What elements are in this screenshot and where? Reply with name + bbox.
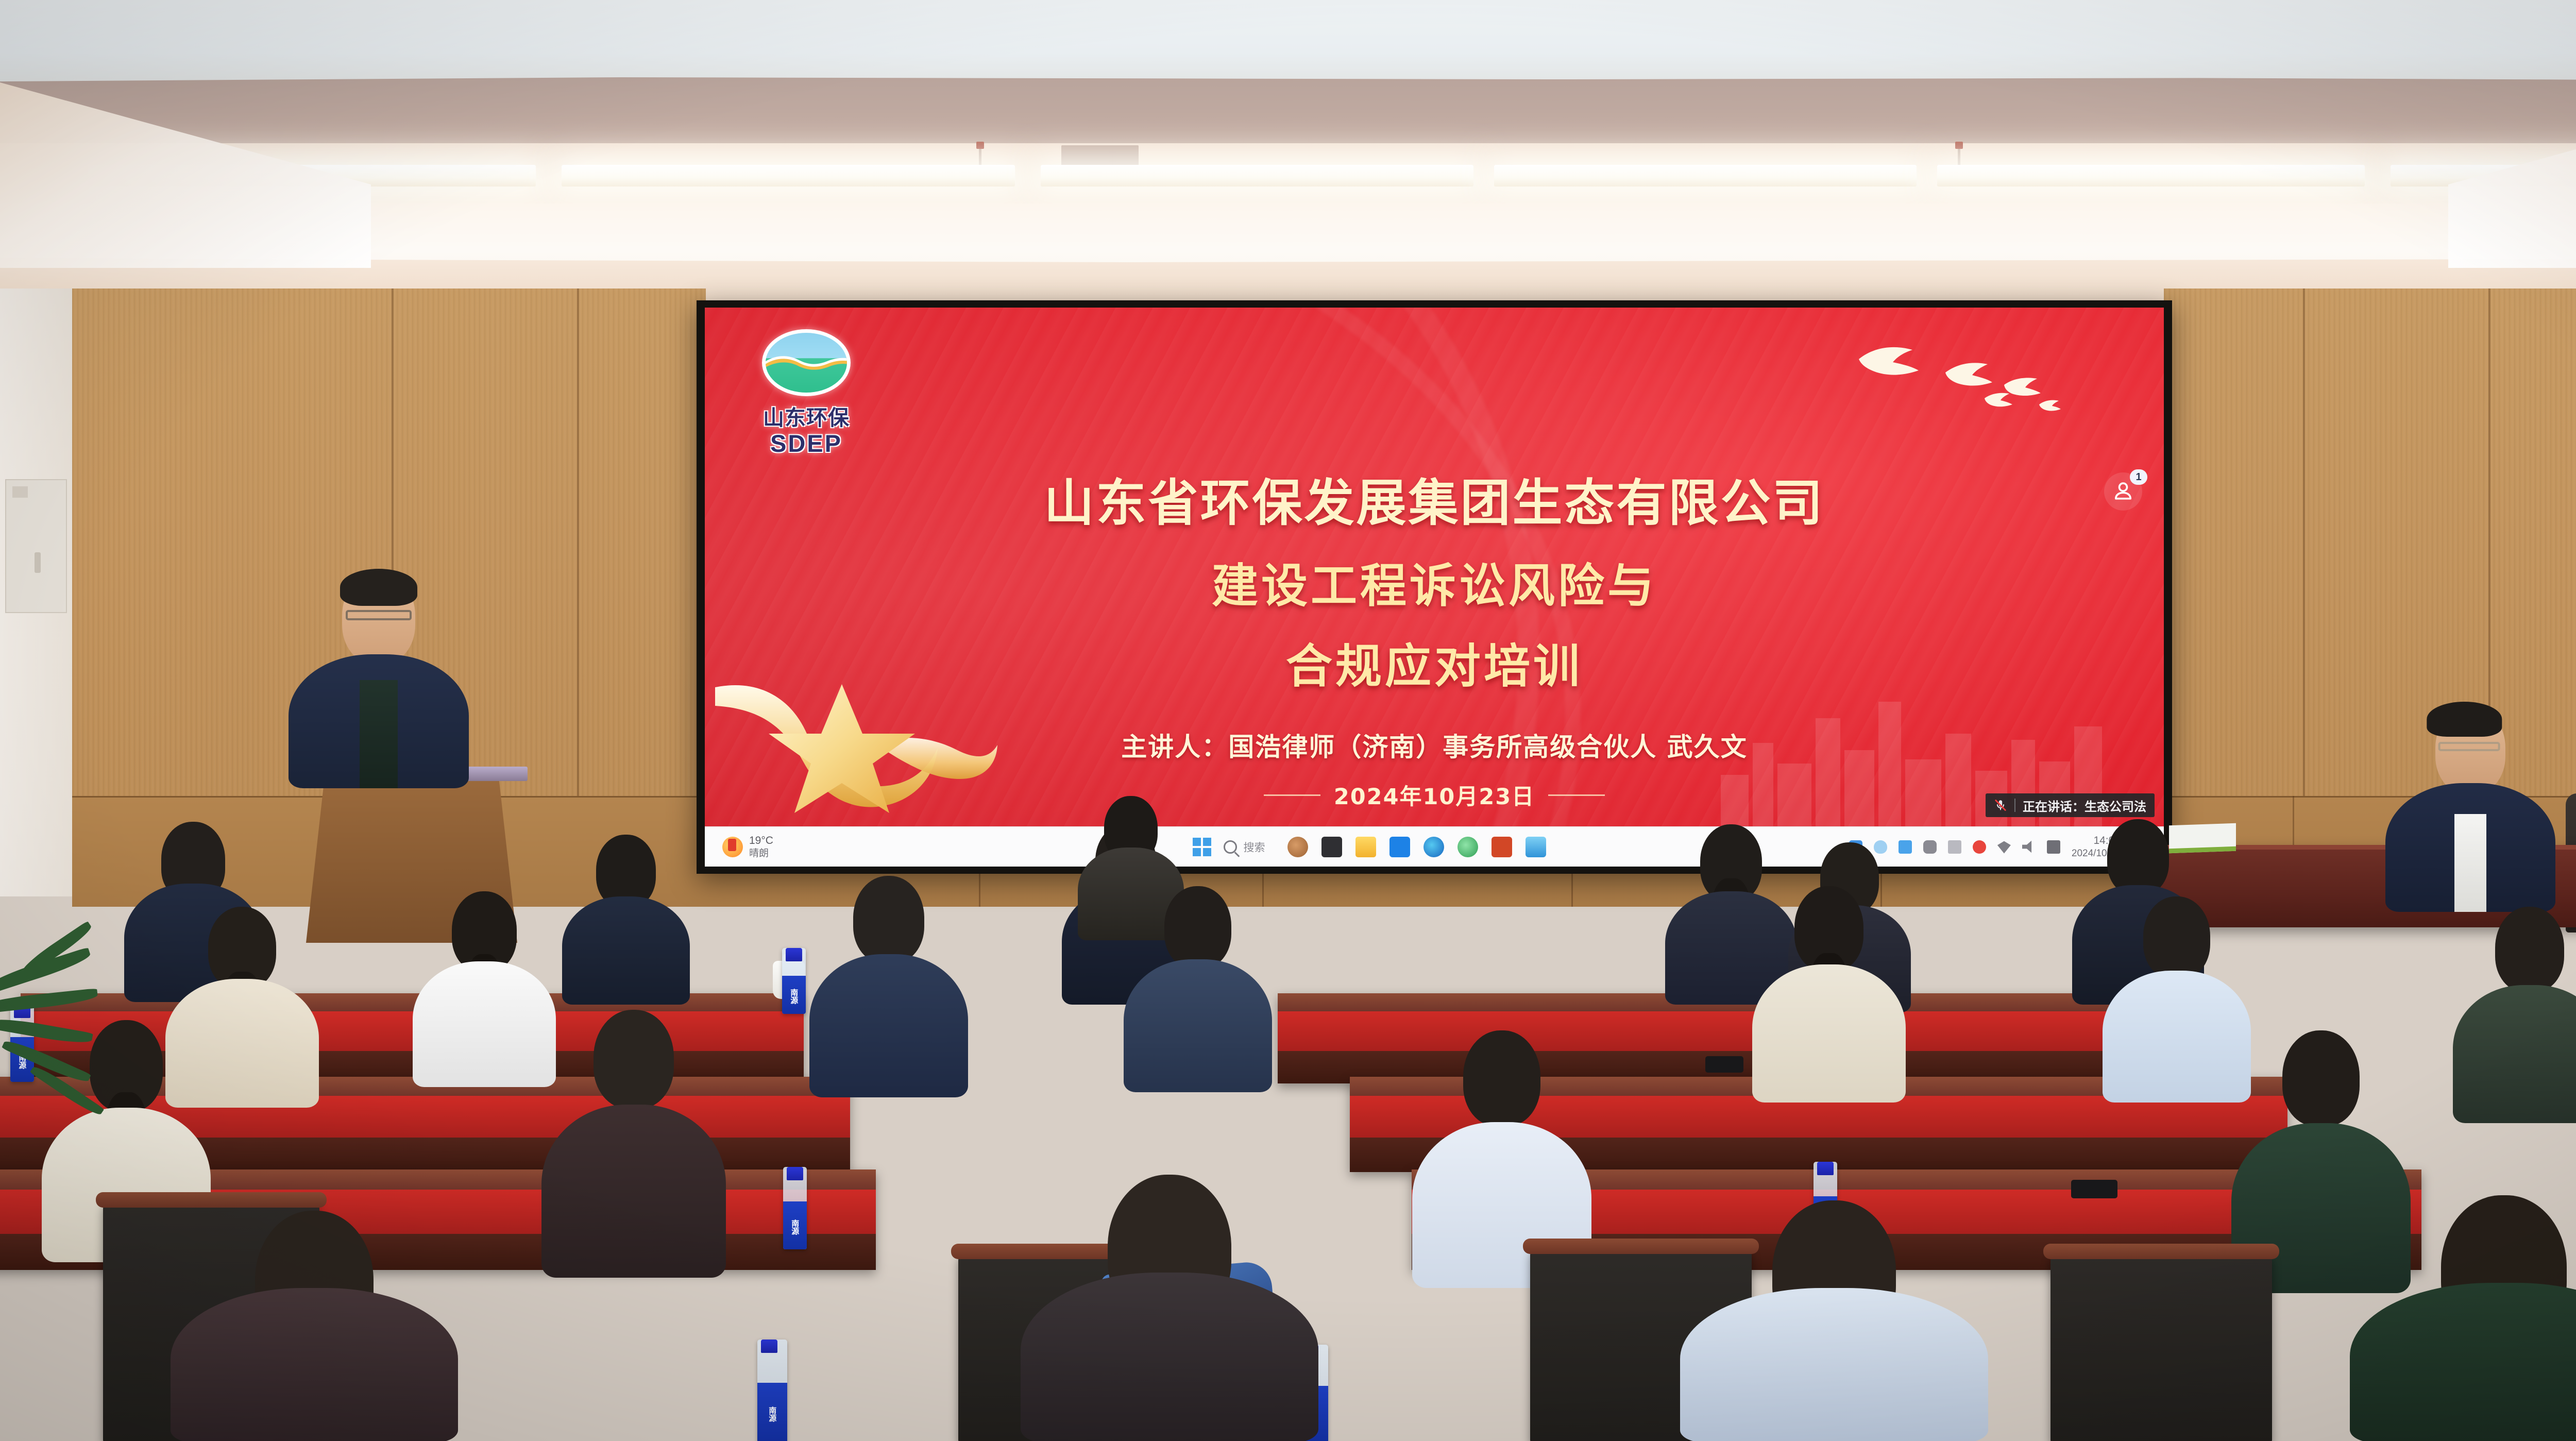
audience-member-foreground [170,1211,459,1441]
app-icon-meeting[interactable] [1526,837,1546,857]
screen-share-icon[interactable] [1948,840,1961,854]
ceiling-beam-band [0,77,2576,147]
sun-thermometer-icon [722,837,743,857]
windows-taskbar[interactable]: 19°C 晴朗 搜索 [705,826,2164,867]
weather-condition: 晴朗 [749,847,773,859]
ceiling-upper [0,0,2576,88]
audience-member [1752,886,1906,1103]
chip-divider [2014,799,2015,812]
file-explorer-icon[interactable] [1355,837,1376,857]
microphone-icon[interactable] [1923,840,1937,854]
taskbar-pinned-apps [1287,837,1546,857]
water-bottle: 南源 [782,948,806,1014]
audience-member [1123,886,1273,1092]
ceiling-light-strip [1041,165,1473,187]
ceiling-light-strip [1937,165,2365,187]
logo-chinese-name: 山东环保 [742,400,871,431]
windows-start-icon[interactable] [1193,838,1211,856]
seated-executive [2385,706,2555,912]
bottle-label: 南源 [783,1201,807,1249]
date-rule-right [1548,794,1605,796]
slide-date: 2024年10月23日 [1334,779,1535,811]
bottle-cap [787,1167,803,1180]
sdep-logo: 山东环保 SDEP [742,329,871,461]
ceiling-light-strip [562,165,1015,187]
speaking-status-label: 正在讲话：生态公司法 [2023,796,2146,815]
ceiling-light-strip [1494,165,1917,187]
app-icon-dingtalk[interactable] [1389,837,1410,857]
edge-browser-icon[interactable] [1423,837,1444,857]
bottle-cap [761,1340,777,1353]
taskbar-weather-widget[interactable]: 19°C 晴朗 [705,834,890,859]
app-icon-wps-l[interactable] [1321,837,1342,857]
audience-member-foreground [2349,1195,2576,1441]
audience-member [412,891,556,1087]
audience-member-foreground [1020,1175,1319,1441]
battery-icon[interactable] [2047,840,2060,854]
gold-star-ribbon-graphic [715,656,1004,826]
bottle-cap [1817,1162,1834,1175]
search-placeholder-text: 搜索 [1243,839,1265,855]
conference-room-photo: 山东环保 SDEP 1 [0,0,2576,1441]
wall-access-panel [5,479,67,613]
taskbar-search[interactable]: 搜索 [1224,839,1265,855]
legacy-edge-icon[interactable] [1458,837,1478,857]
weather-temperature: 19°C [749,834,773,847]
sdep-oval-logo [762,329,851,396]
mic-muted-icon [1994,799,2007,812]
audience-member-foreground [1680,1200,1989,1441]
slide-title-line-2: 建设工程诉讼风险与 [705,548,2164,615]
volume-icon[interactable] [2022,840,2036,854]
bottle-label: 南源 [757,1383,787,1441]
audience-chair [2050,1252,2272,1441]
audience-member [809,876,969,1097]
date-rule-left [1264,794,1320,796]
presenter-at-podium [289,572,469,788]
water-bottle: 南源 [783,1167,807,1249]
presentation-slide[interactable]: 山东环保 SDEP 1 [705,308,2164,867]
audience-member [2452,907,2576,1123]
bottle-label: 南源 [782,976,806,1014]
now-speaking-chip: 正在讲话：生态公司法 [1986,793,2155,817]
search-icon [1224,840,1237,854]
sogou-input-icon[interactable] [1973,840,1986,854]
audience-member [562,835,690,1005]
logo-acronym: SDEP [742,429,871,457]
wifi-icon[interactable] [1997,840,2011,854]
bottle-cap [786,948,802,961]
smartphone-on-desk [1705,1056,1743,1073]
projection-screen-frame: 山东环保 SDEP 1 [697,300,2172,874]
app-icon-xiangji[interactable] [1287,837,1308,857]
logo-wave-icon [762,353,851,371]
audience-member [541,1010,726,1278]
powerpoint-icon[interactable] [1492,837,1512,857]
water-bottle: 南源 [757,1340,787,1441]
flying-doves-graphic [1850,332,2076,435]
potted-plant-left [0,933,149,1149]
smartphone-on-desk [2071,1180,2117,1198]
slide-title-line-1: 山东省环保发展集团生态有限公司 [705,462,2164,535]
audience-member [2102,896,2251,1103]
